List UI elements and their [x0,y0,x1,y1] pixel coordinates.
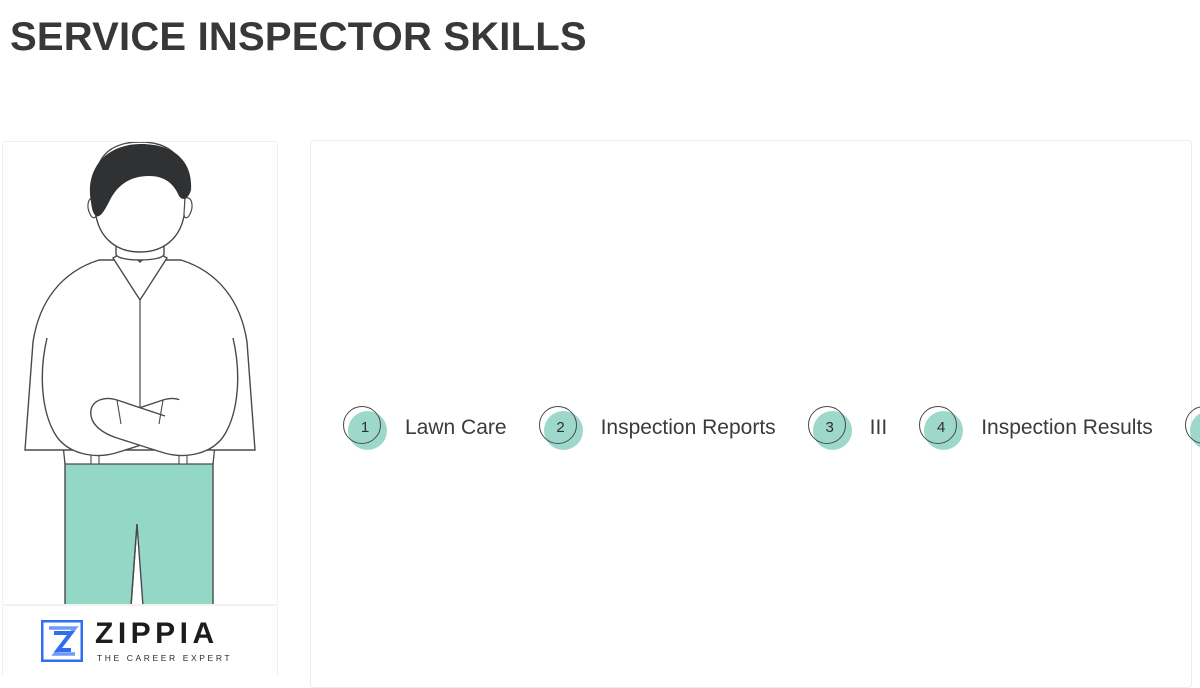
zippia-logo-icon [41,620,83,662]
badge-ring: 3 [808,406,846,444]
badge-ring: 4 [919,406,957,444]
logo-z-inner [54,633,71,650]
skill-label: Lawn Care [405,415,507,440]
badge-number: 2 [556,420,564,435]
badge-number: 1 [361,420,369,435]
number-badge-icon: 4 [919,406,963,450]
skill-item-5: 5 Data Entry [1153,169,1200,687]
brand-tagline: THE CAREER EXPERT [97,654,232,663]
skill-item-4: 4 Inspection Results [887,169,1153,687]
badge-number: 4 [937,420,945,435]
person-arms-crossed-illustration [3,142,278,605]
number-badge-icon: 1 [343,406,387,450]
badge-ring: 2 [539,406,577,444]
brand-text: ZIPPIA THE CAREER EXPERT [95,619,232,663]
number-badge-icon: 3 [808,406,852,450]
badge-number: 3 [826,420,834,435]
brand-wordmark: ZIPPIA [95,619,232,649]
skills-list: 1 Lawn Care 2 Inspection Reports 3 III [311,141,1191,687]
skill-label: Inspection Reports [601,415,776,440]
badge-ring: 1 [343,406,381,444]
badge-ring: 5 [1185,406,1200,444]
pants-shape [65,455,213,605]
number-badge-icon: 5 [1185,406,1200,450]
skills-card: 1 Lawn Care 2 Inspection Reports 3 III [310,140,1192,688]
brand-logo: ZIPPIA THE CAREER EXPERT [2,605,278,675]
ear-right [184,198,192,218]
page-title: SERVICE INSPECTOR SKILLS [10,14,587,60]
skill-item-2: 2 Inspection Reports [507,169,776,687]
illustration-panel [2,141,278,605]
skill-item-1: 1 Lawn Care [311,169,507,687]
skill-label: Inspection Results [981,415,1153,440]
skill-item-3: 3 III [776,169,888,687]
skill-label: III [870,415,888,440]
number-badge-icon: 2 [539,406,583,450]
